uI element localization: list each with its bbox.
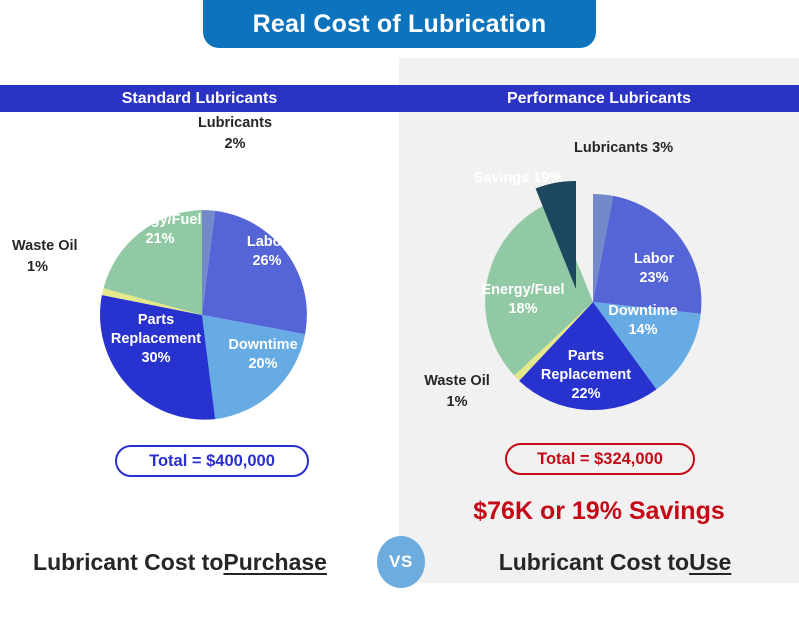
label-waste-oil-value: 1% [27, 259, 48, 275]
label-downtime-name: Downtime [608, 303, 677, 319]
label-savings: Savings 19% [474, 170, 563, 186]
label-lubricants-name: Lubricants [198, 115, 272, 131]
footer-caption-use: Lubricant Cost to Use [440, 544, 790, 580]
performance-lubricants-pie-chart: Lubricants 3% Labor 23% Downtime 14% Par… [408, 112, 792, 442]
label-waste-oil-name: Waste Oil [424, 373, 490, 389]
standard-total-badge: Total = $400,000 [115, 445, 309, 477]
label-labor-name: Labor [634, 251, 675, 267]
label-downtime-value: 20% [248, 356, 277, 372]
label-parts-name-2: Replacement [111, 331, 201, 347]
vs-badge: VS [377, 536, 425, 588]
label-energy-value: 21% [145, 231, 174, 247]
label-labor-value: 26% [252, 253, 281, 269]
label-downtime-value: 14% [628, 322, 657, 338]
column-header-performance: Performance Lubricants [399, 85, 799, 112]
label-energy-name: Energy/Fuel [119, 212, 202, 228]
label-energy-name: Energy/Fuel [482, 282, 565, 298]
label-parts-value: 22% [571, 386, 600, 402]
label-parts-name-1: Parts [568, 348, 604, 364]
slice-labor [202, 211, 307, 334]
label-downtime-name: Downtime [228, 337, 297, 353]
infographic-root: Real Cost of Lubrication Standard Lubric… [0, 0, 799, 624]
footer-caption-purchase: Lubricant Cost to Purchase [0, 544, 360, 580]
footer-left-prefix: Lubricant Cost to [33, 549, 223, 576]
label-energy-value: 18% [508, 301, 537, 317]
label-labor-name: Labor [247, 234, 288, 250]
label-lubricants: Lubricants 3% [574, 140, 673, 156]
label-lubricants-value: 2% [225, 136, 246, 152]
footer-right-prefix: Lubricant Cost to [499, 549, 689, 576]
label-parts-value: 30% [141, 350, 170, 366]
page-title: Real Cost of Lubrication [203, 0, 596, 48]
label-parts-name-2: Replacement [541, 367, 631, 383]
footer-left-emphasis: Purchase [223, 549, 327, 576]
label-waste-oil-name: Waste Oil [12, 238, 78, 254]
label-waste-oil-value: 1% [447, 394, 468, 410]
performance-total-badge: Total = $324,000 [505, 443, 695, 475]
label-parts-name-1: Parts [138, 312, 174, 328]
footer-right-emphasis: Use [689, 549, 731, 576]
label-labor-value: 23% [639, 270, 668, 286]
savings-callout: $76K or 19% Savings [399, 497, 799, 526]
column-header-standard: Standard Lubricants [0, 85, 399, 112]
standard-lubricants-pie-chart: Lubricants 2% Labor 26% Downtime 20% Par… [12, 112, 392, 442]
right-pie-svg: Lubricants 3% Labor 23% Downtime 14% Par… [408, 112, 792, 442]
left-pie-svg: Lubricants 2% Labor 26% Downtime 20% Par… [12, 112, 392, 442]
